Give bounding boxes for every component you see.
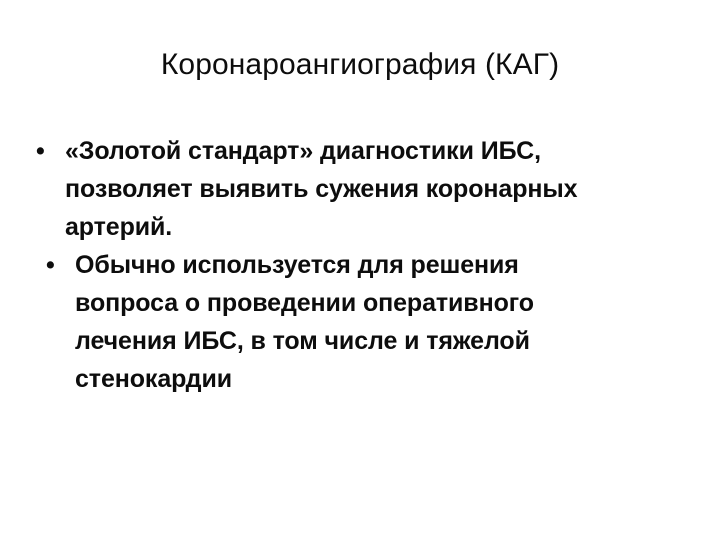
slide-body: • «Золотой стандарт» диагностики ИБС, по… xyxy=(26,132,666,398)
bullet-dot-icon: • xyxy=(46,246,55,284)
bullet-list: • «Золотой стандарт» диагностики ИБС, по… xyxy=(26,132,666,398)
bullet-text: «Золотой стандарт» диагностики ИБС, позв… xyxy=(65,132,640,246)
presentation-slide: Коронароангиография (КАГ) • «Золотой ста… xyxy=(0,0,720,540)
list-item: • Обычно используется для решения вопрос… xyxy=(26,246,666,398)
slide-title: Коронароангиография (КАГ) xyxy=(0,47,720,83)
bullet-text: Обычно используется для решения вопроса … xyxy=(75,246,620,398)
bullet-dot-icon: • xyxy=(36,132,45,170)
list-item: • «Золотой стандарт» диагностики ИБС, по… xyxy=(26,132,666,246)
